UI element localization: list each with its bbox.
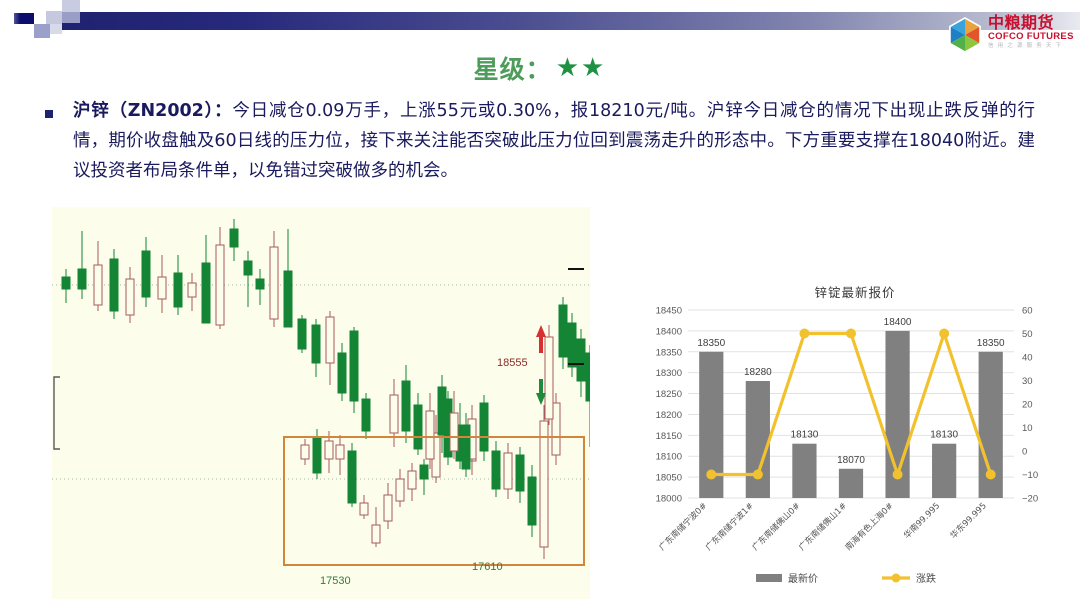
cat-label-4: 南海有色上海0#	[843, 500, 896, 553]
candlestick-svg	[52, 207, 590, 599]
line-point-6	[986, 470, 996, 480]
y-tick: 18150	[656, 431, 682, 442]
brand-slogan: 信 用 之 源 服 务 天 下	[988, 42, 1074, 50]
line-point-0	[706, 470, 716, 480]
y2-tick: −20	[1022, 494, 1038, 505]
candlestick-chart: 18555 17530 17610	[52, 207, 590, 599]
cat-label-0: 广东南储宁波0#	[657, 500, 710, 553]
y2-tick: 30	[1022, 376, 1033, 387]
cat-label-1: 广东南储宁波1#	[703, 500, 756, 553]
legend-swatch-bar	[756, 574, 782, 582]
legend-label-line: 涨跌	[916, 572, 936, 585]
legend-label-bar: 最新价	[788, 572, 818, 585]
bar-label-1: 18280	[744, 367, 772, 378]
y-tick: 18450	[656, 306, 682, 317]
bar-2	[792, 444, 816, 498]
bar-label-2: 18130	[791, 430, 819, 441]
bar-3	[839, 469, 863, 498]
y-tick: 18350	[656, 347, 682, 358]
y2-tick: 50	[1022, 329, 1033, 340]
cat-label-2: 广东南储佛山0#	[750, 500, 803, 553]
candle-annotation-high: 18555	[497, 357, 528, 369]
header-square-6	[34, 24, 50, 38]
bar-label-0: 18350	[697, 338, 725, 349]
cat-label-5: 华南99.995	[901, 500, 942, 541]
line-point-2	[799, 329, 809, 339]
bar-label-3: 18070	[837, 455, 865, 466]
bar-chart-svg: 1800018050181001815018200182501830018350…	[632, 300, 1078, 600]
cat-label-3: 广东南储佛山1#	[796, 500, 849, 553]
bar-chart-title: 锌锭最新报价	[632, 282, 1078, 301]
cat-label-6: 华东99.995	[948, 500, 989, 541]
analysis-paragraph: 沪锌（ZN2002）：今日减仓0.09万手，上涨55元或0.30%，报18210…	[73, 96, 1035, 186]
y-tick: 18000	[656, 494, 682, 505]
y2-tick: 20	[1022, 400, 1033, 411]
y2-tick: 10	[1022, 423, 1033, 434]
candle-annotation-low1: 17530	[320, 575, 351, 587]
chart-legend: 最新价涨跌	[756, 572, 936, 585]
bar-1	[746, 381, 770, 498]
bar-label-4: 18400	[884, 317, 912, 328]
x-axis-category-labels: 广东南储宁波0#广东南储宁波1#广东南储佛山0#广东南储佛山1#南海有色上海0#…	[657, 500, 989, 553]
line-point-5	[939, 329, 949, 339]
legend-marker-line	[892, 574, 901, 583]
analysis-title: 沪锌（ZN2002）：	[73, 101, 232, 121]
left-bracket	[54, 377, 60, 449]
header-gradient-bar	[62, 12, 1080, 30]
star-rating-stars: ★★	[556, 53, 607, 83]
line-point-1	[753, 470, 763, 480]
zinc-price-chart: 锌锭最新报价 180001805018100181501820018250183…	[632, 282, 1078, 602]
bar-5	[932, 444, 956, 498]
y2-tick: 60	[1022, 306, 1033, 317]
bar-label-5: 18130	[930, 430, 958, 441]
header-fade	[0, 0, 20, 40]
y-tick: 18400	[656, 326, 682, 337]
brand-name-cn: 中粮期货	[988, 14, 1074, 31]
header-square-5	[62, 12, 80, 23]
candle-annotation-low2: 17610	[472, 561, 503, 573]
y2-tick: −10	[1022, 470, 1038, 481]
y-tick: 18250	[656, 389, 682, 400]
cofco-cube-icon	[946, 16, 984, 54]
header-decoration	[0, 0, 1080, 56]
analysis-block: 沪锌（ZN2002）：今日减仓0.09万手，上涨55元或0.30%，报18210…	[45, 96, 1035, 186]
header-square-4	[62, 0, 80, 12]
star-rating-label: 星级：	[474, 50, 552, 86]
y-tick: 18100	[656, 452, 682, 463]
square-bullet-icon	[45, 110, 53, 118]
bar-label-6: 18350	[977, 338, 1005, 349]
header-square-3	[46, 11, 62, 24]
y2-tick: 40	[1022, 353, 1033, 364]
brand-name-en: COFCO FUTURES	[988, 31, 1074, 42]
header-square-7	[50, 24, 62, 34]
star-rating: 星级： ★★	[0, 50, 1080, 86]
y-axis-right-ticks: −20−100102030405060	[1022, 306, 1038, 505]
y-tick: 18050	[656, 473, 682, 484]
line-point-4	[893, 470, 903, 480]
y2-tick: 0	[1022, 447, 1027, 458]
brand-logo-text: 中粮期货 COFCO FUTURES 信 用 之 源 服 务 天 下	[988, 14, 1074, 50]
candle-series	[62, 219, 590, 559]
y-tick: 18300	[656, 368, 682, 379]
line-point-3	[846, 329, 856, 339]
y-axis-left-ticks: 1800018050181001815018200182501830018350…	[656, 306, 682, 505]
y-tick: 18200	[656, 410, 682, 421]
